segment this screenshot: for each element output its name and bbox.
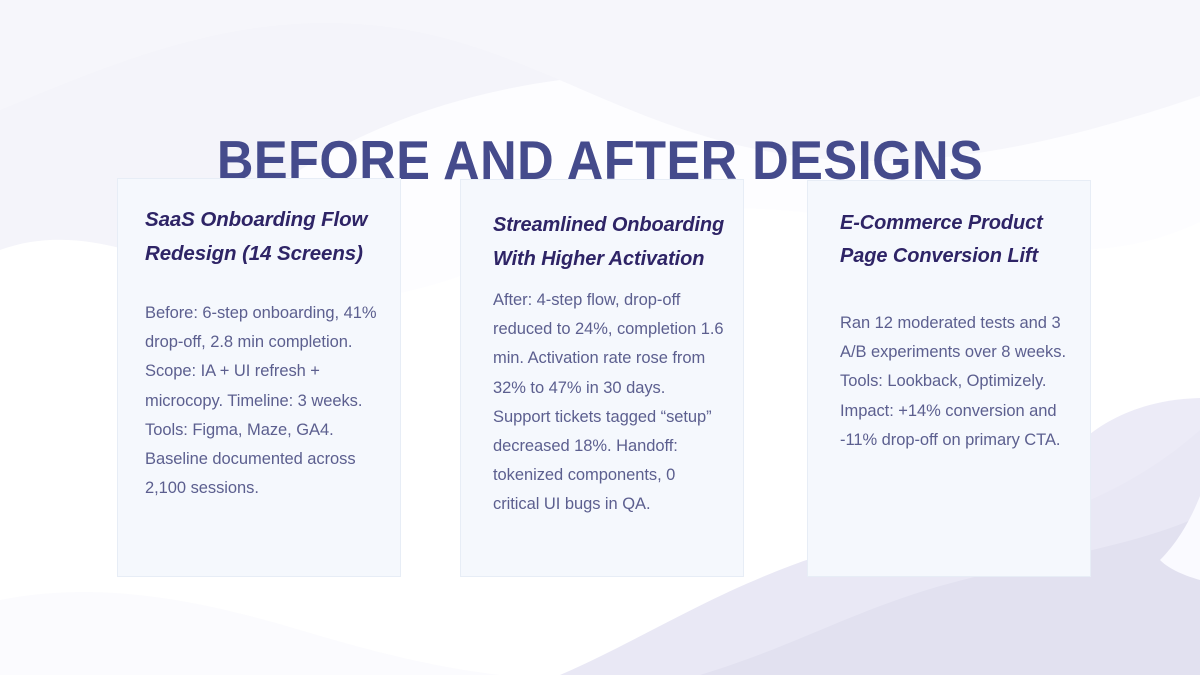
slide-canvas: BEFORE AND AFTER DESIGNS SaaS Onboarding… (0, 0, 1200, 675)
card-ecommerce-conversion[interactable]: E-Commerce Product Page Conversion Lift … (807, 180, 1091, 577)
card-inner: E-Commerce Product Page Conversion Lift … (840, 207, 1072, 455)
card-body: After: 4-step flow, drop-off reduced to … (493, 286, 725, 520)
card-streamlined-onboarding[interactable]: Streamlined Onboarding With Higher Activ… (460, 179, 744, 577)
slide-content: BEFORE AND AFTER DESIGNS SaaS Onboarding… (0, 0, 1200, 675)
card-body: Before: 6-step onboarding, 41% drop-off,… (145, 299, 378, 503)
card-saas-onboarding[interactable]: SaaS Onboarding Flow Redesign (14 Screen… (117, 178, 401, 577)
card-body: Ran 12 moderated tests and 3 A/B experim… (840, 309, 1072, 455)
card-heading: Streamlined Onboarding With Higher Activ… (493, 208, 725, 276)
card-inner: Streamlined Onboarding With Higher Activ… (493, 208, 725, 520)
cards-row: SaaS Onboarding Flow Redesign (14 Screen… (0, 0, 1200, 675)
card-heading: SaaS Onboarding Flow Redesign (14 Screen… (145, 203, 378, 271)
card-heading: E-Commerce Product Page Conversion Lift (840, 207, 1072, 273)
card-inner: SaaS Onboarding Flow Redesign (14 Screen… (145, 203, 378, 503)
